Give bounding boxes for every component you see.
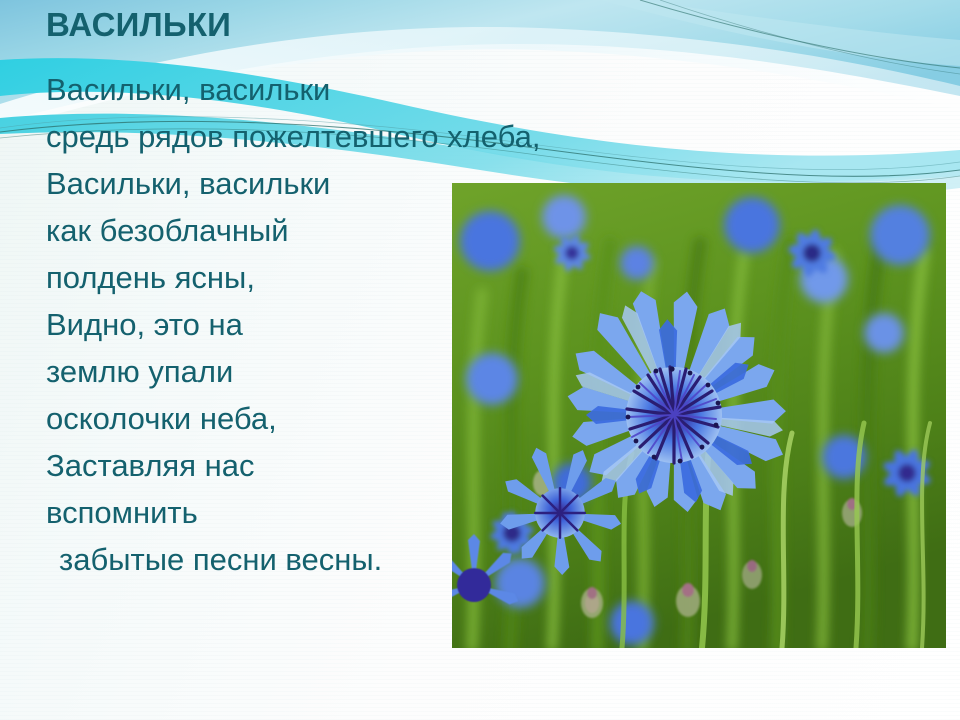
poem-line: средь рядов пожелтевшего хлеба, [46,113,606,160]
page-title: ВАСИЛЬКИ [46,6,231,44]
poem-line: Видно, это на [46,301,606,348]
poem-body: Васильки, васильки средь рядов пожелтевш… [46,66,606,583]
poem-line: Васильки, васильки [46,66,606,113]
poem-line: полдень ясны, [46,254,606,301]
slide-canvas: ВАСИЛЬКИ Васильки, васильки средь рядов … [0,0,960,720]
poem-line: землю упали [46,348,606,395]
poem-line: как безоблачный [46,207,606,254]
poem-line: забытые песни весны. [46,536,606,583]
poem-line: Васильки, васильки [46,160,606,207]
poem-line: Заставляя нас [46,442,606,489]
poem-line: осколочки неба, [46,395,606,442]
poem-line: вспомнить [46,489,606,536]
